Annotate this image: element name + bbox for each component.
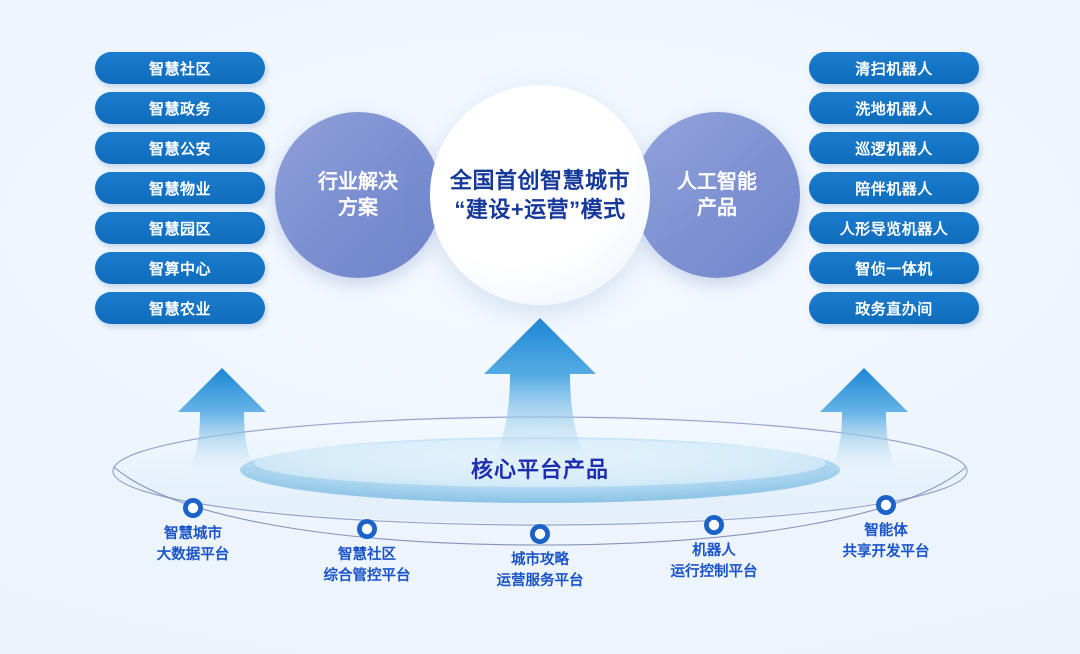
pill-item[interactable]: 政务直办间 bbox=[809, 292, 979, 324]
circle-line-2: “建设+运营”模式 bbox=[454, 195, 625, 224]
pill-item[interactable]: 洗地机器人 bbox=[809, 92, 979, 124]
pill-item[interactable]: 巡逻机器人 bbox=[809, 132, 979, 164]
node-line-2: 共享开发平台 bbox=[811, 542, 961, 563]
pill-label: 智算中心 bbox=[149, 258, 211, 279]
platform-node-label[interactable]: 机器人 运行控制平台 bbox=[639, 541, 789, 583]
pill-label: 智侦一体机 bbox=[855, 258, 933, 279]
pill-label: 智慧公安 bbox=[149, 138, 211, 159]
node-line-1: 智能体 bbox=[811, 521, 961, 542]
platform-node-label[interactable]: 城市攻略 运营服务平台 bbox=[465, 550, 615, 592]
pill-label: 人形导览机器人 bbox=[840, 218, 949, 239]
pill-item[interactable]: 智侦一体机 bbox=[809, 252, 979, 284]
pill-label: 巡逻机器人 bbox=[855, 138, 933, 159]
pill-item[interactable]: 陪伴机器人 bbox=[809, 172, 979, 204]
pill-label: 智慧社区 bbox=[149, 58, 211, 79]
circle-line-2: 产品 bbox=[697, 195, 737, 221]
circle-line-1: 行业解决 bbox=[318, 169, 398, 195]
pill-item[interactable]: 智慧政务 bbox=[95, 92, 265, 124]
platform-node-label[interactable]: 智能体 共享开发平台 bbox=[811, 521, 961, 563]
diagram-canvas: 智慧社区 智慧政务 智慧公安 智慧物业 智慧园区 智算中心 智慧农业 清扫机器人… bbox=[0, 0, 1080, 654]
pill-item[interactable]: 智慧物业 bbox=[95, 172, 265, 204]
pill-item[interactable]: 智算中心 bbox=[95, 252, 265, 284]
circle-line-1: 人工智能 bbox=[677, 169, 757, 195]
pill-item[interactable]: 智慧园区 bbox=[95, 212, 265, 244]
pill-label: 智慧物业 bbox=[149, 178, 211, 199]
node-line-2: 运行控制平台 bbox=[639, 562, 789, 583]
pill-label: 智慧园区 bbox=[149, 218, 211, 239]
platform-node-label[interactable]: 智慧社区 综合管控平台 bbox=[292, 545, 442, 587]
node-line-1: 城市攻略 bbox=[465, 550, 615, 571]
pill-item[interactable]: 清扫机器人 bbox=[809, 52, 979, 84]
circle-line-1: 全国首创智慧城市 bbox=[450, 166, 630, 195]
pill-item[interactable]: 智慧社区 bbox=[95, 52, 265, 84]
ai-products-pill-list: 清扫机器人 洗地机器人 巡逻机器人 陪伴机器人 人形导览机器人 智侦一体机 政务… bbox=[809, 52, 979, 324]
core-platform-title: 核心平台产品 bbox=[0, 452, 1080, 484]
pill-label: 智慧政务 bbox=[149, 98, 211, 119]
arrow-center bbox=[484, 318, 596, 470]
pill-label: 洗地机器人 bbox=[855, 98, 933, 119]
circle-smart-city-model[interactable]: 全国首创智慧城市 “建设+运营”模式 bbox=[430, 85, 650, 305]
pill-label: 陪伴机器人 bbox=[855, 178, 933, 199]
pill-item[interactable]: 智慧公安 bbox=[95, 132, 265, 164]
pill-label: 智慧农业 bbox=[149, 298, 211, 319]
pill-label: 清扫机器人 bbox=[855, 58, 933, 79]
node-line-1: 机器人 bbox=[639, 541, 789, 562]
industry-solutions-pill-list: 智慧社区 智慧政务 智慧公安 智慧物业 智慧园区 智算中心 智慧农业 bbox=[95, 52, 265, 324]
pill-item[interactable]: 人形导览机器人 bbox=[809, 212, 979, 244]
circle-industry-solutions[interactable]: 行业解决 方案 bbox=[275, 112, 441, 278]
node-line-2: 大数据平台 bbox=[118, 545, 268, 566]
node-line-2: 运营服务平台 bbox=[465, 571, 615, 592]
pill-item[interactable]: 智慧农业 bbox=[95, 292, 265, 324]
node-line-1: 智慧社区 bbox=[292, 545, 442, 566]
node-line-2: 综合管控平台 bbox=[292, 566, 442, 587]
circle-line-2: 方案 bbox=[338, 195, 378, 221]
pill-label: 政务直办间 bbox=[855, 298, 933, 319]
node-line-1: 智慧城市 bbox=[118, 524, 268, 545]
platform-node-label[interactable]: 智慧城市 大数据平台 bbox=[118, 524, 268, 566]
circle-ai-products[interactable]: 人工智能 产品 bbox=[634, 112, 800, 278]
